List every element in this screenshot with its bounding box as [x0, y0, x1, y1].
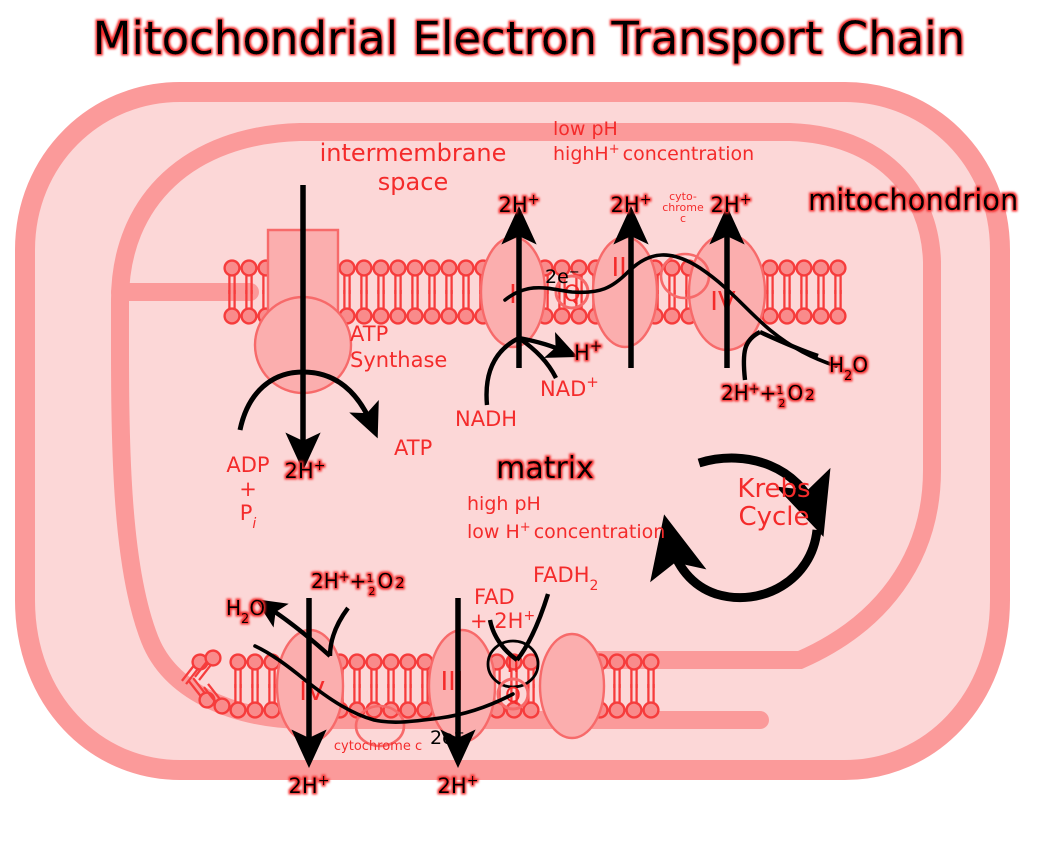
nadh-label: NADH: [455, 407, 517, 431]
matrix-label: matrix: [496, 451, 594, 486]
complex-IV-upper-label: IV: [710, 287, 736, 317]
ims-high-h-concentration: highH+concentration: [553, 142, 754, 166]
diagram-canvas: Mitochondrial Electron Transport Chain: [0, 0, 1058, 848]
page-title-text: Mitochondrial Electron Transport Chain: [93, 12, 966, 65]
page-title: Mitochondrial Electron Transport Chain: [93, 12, 966, 65]
intermembrane-line2: space: [378, 168, 448, 196]
matrix-low-h-concentration: low H+concentration: [467, 520, 665, 544]
intermembrane-line1: intermembrane: [320, 139, 507, 167]
mitochondrion-label: mitochondrion: [808, 183, 1018, 217]
atp-product-label: ATP: [394, 436, 432, 460]
mitochondria-diagram-svg: Mitochondrial Electron Transport Chain: [0, 0, 1058, 848]
adp-label: ADP: [226, 453, 269, 477]
matrix-high-ph: high pH: [467, 493, 541, 515]
two-h-label-III-lower: 2H+: [438, 773, 479, 798]
krebs-cycle-label-line1: Krebs: [737, 474, 810, 504]
atp-synthase-line2: Synthase: [350, 348, 447, 372]
atp-synthase-line1: ATP: [350, 322, 388, 346]
krebs-cycle-label-line2: Cycle: [738, 502, 809, 532]
cytochrome-c-lower-label: cytochrome c: [334, 739, 422, 754]
plus-sign-adp: +: [239, 477, 257, 501]
ims-low-ph: low pH: [553, 118, 618, 140]
fad-label: FAD: [474, 585, 515, 609]
two-h-label-IV-lower: 2H+: [289, 773, 330, 798]
cyt-c-line3: c: [680, 212, 686, 225]
unlabeled-complex-lower: [540, 634, 604, 738]
